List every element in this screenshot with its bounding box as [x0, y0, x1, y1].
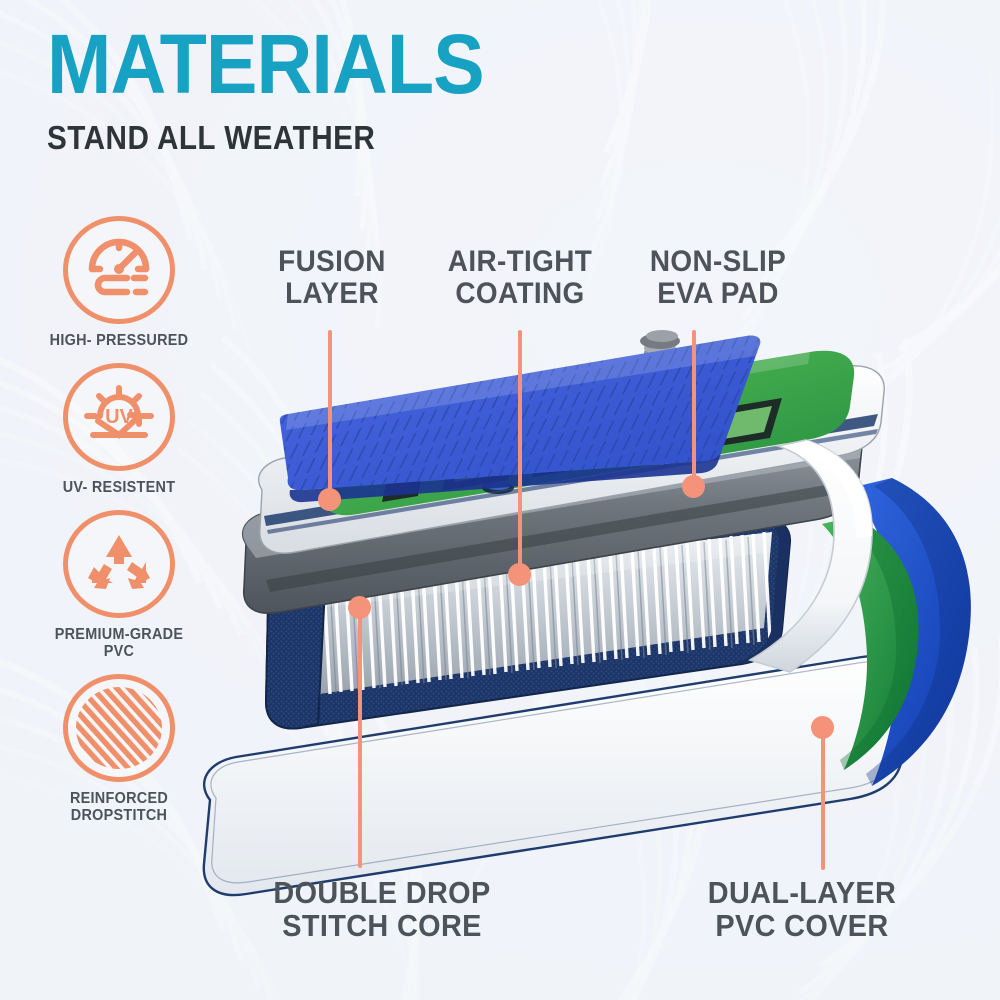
leader-line-fusion-layer	[328, 330, 332, 500]
uv-resistent-icon: UV	[82, 383, 156, 451]
leader-dot-air-tight	[508, 563, 531, 586]
leader-dot-eva-pad	[682, 475, 705, 498]
callout-non-slip-eva-pad: NON-SLIP EVA PAD	[629, 246, 808, 311]
callout-fusion-layer: FUSION LAYER	[258, 246, 407, 311]
infographic-canvas: MATERIALS STAND ALL WEATHER HIG	[0, 0, 1000, 1000]
callout-double-drop-stitch-core: DOUBLE DROP STITCH CORE	[257, 876, 506, 943]
page-title: MATERIALS	[47, 28, 484, 102]
leader-dot-core	[348, 596, 371, 619]
svg-text:UV: UV	[105, 406, 133, 428]
exploded-paddle-board-diagram	[150, 330, 1000, 930]
pressure-gauge-icon	[83, 237, 155, 303]
callout-dual-layer-pvc-cover: DUAL-LAYER PVC COVER	[694, 876, 910, 943]
icon-ring	[63, 216, 175, 324]
leader-line-core	[358, 600, 362, 868]
leader-line-eva-pad	[692, 330, 696, 485]
recycle-icon	[84, 531, 154, 597]
callout-air-tight-coating: AIR-TIGHT COATING	[429, 246, 611, 311]
leader-dot-fusion-layer	[318, 488, 341, 511]
leader-line-air-tight	[518, 330, 522, 575]
leader-dot-pvc-cover	[811, 716, 834, 739]
page-subtitle: STAND ALL WEATHER	[47, 119, 474, 157]
leader-line-pvc-cover	[821, 724, 825, 870]
header-block: MATERIALS STAND ALL WEATHER	[47, 28, 522, 157]
